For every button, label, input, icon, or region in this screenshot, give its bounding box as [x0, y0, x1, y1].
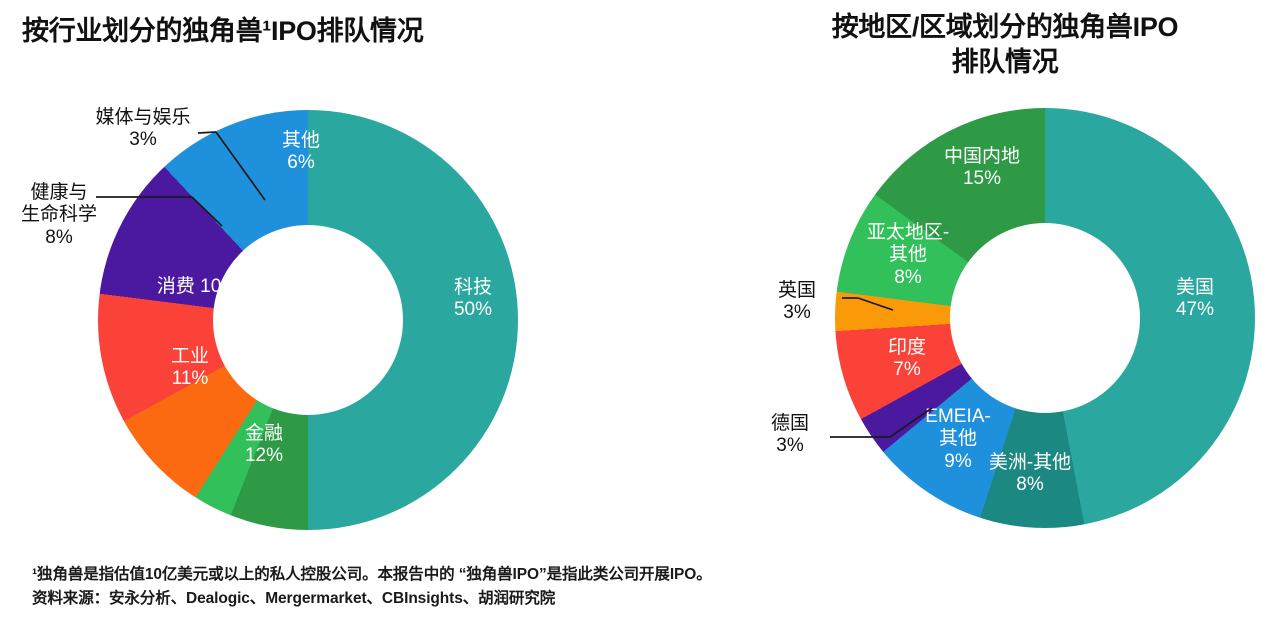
- slice-label-industrial: 工业 11%: [150, 346, 230, 391]
- slice-label-tech: 科技 50%: [428, 277, 518, 322]
- slice-label-emeia-other: EMEIA- 其他 9%: [918, 406, 998, 473]
- page-title-by-geography: 按地区/区域划分的独角兽IPO 排队情况: [795, 10, 1215, 79]
- slice-label-media-entertainment: 媒体与娱乐 3%: [78, 107, 208, 152]
- donut-hole-geography: [950, 223, 1140, 413]
- slice-label-consumer: 消费 10%: [135, 276, 260, 298]
- slice-label-health-life-science: 健康与 生命科学 8%: [0, 182, 118, 249]
- footnote-line-sources: 资料来源：安永分析、Dealogic、Mergermarket、CBInsigh…: [32, 590, 555, 607]
- donut-hole-industry: [213, 225, 403, 415]
- slice-label-china-mainland: 中国内地 15%: [922, 146, 1042, 191]
- footnote-line-definition: ¹独角兽是指估值10亿美元或以上的私人控股公司。本报告中的 “独角兽IPO”是指…: [32, 566, 712, 583]
- chart-panel-by-geography: 按地区/区域划分的独角兽IPO 排队情况 美国 47% 美洲-其他 8% EME…: [640, 0, 1280, 642]
- slice-label-other: 其他 6%: [265, 130, 337, 175]
- slice-label-us: 美国 47%: [1150, 277, 1240, 322]
- slice-label-uk: 英国 3%: [760, 280, 834, 325]
- slice-label-germany: 德国 3%: [752, 413, 828, 458]
- page-title-by-industry: 按行业划分的独角兽¹IPO排队情况: [22, 14, 423, 49]
- slice-label-finance: 金融 12%: [224, 423, 304, 468]
- slice-label-apac-other: 亚太地区- 其他 8%: [860, 222, 956, 289]
- footnote: ¹独角兽是指估值10亿美元或以上的私人控股公司。本报告中的 “独角兽IPO”是指…: [32, 563, 1252, 610]
- slice-label-india: 印度 7%: [872, 337, 942, 382]
- chart-panel-by-industry: 按行业划分的独角兽¹IPO排队情况 科技 50% 其他 6% 消费 10% 工业…: [0, 0, 640, 642]
